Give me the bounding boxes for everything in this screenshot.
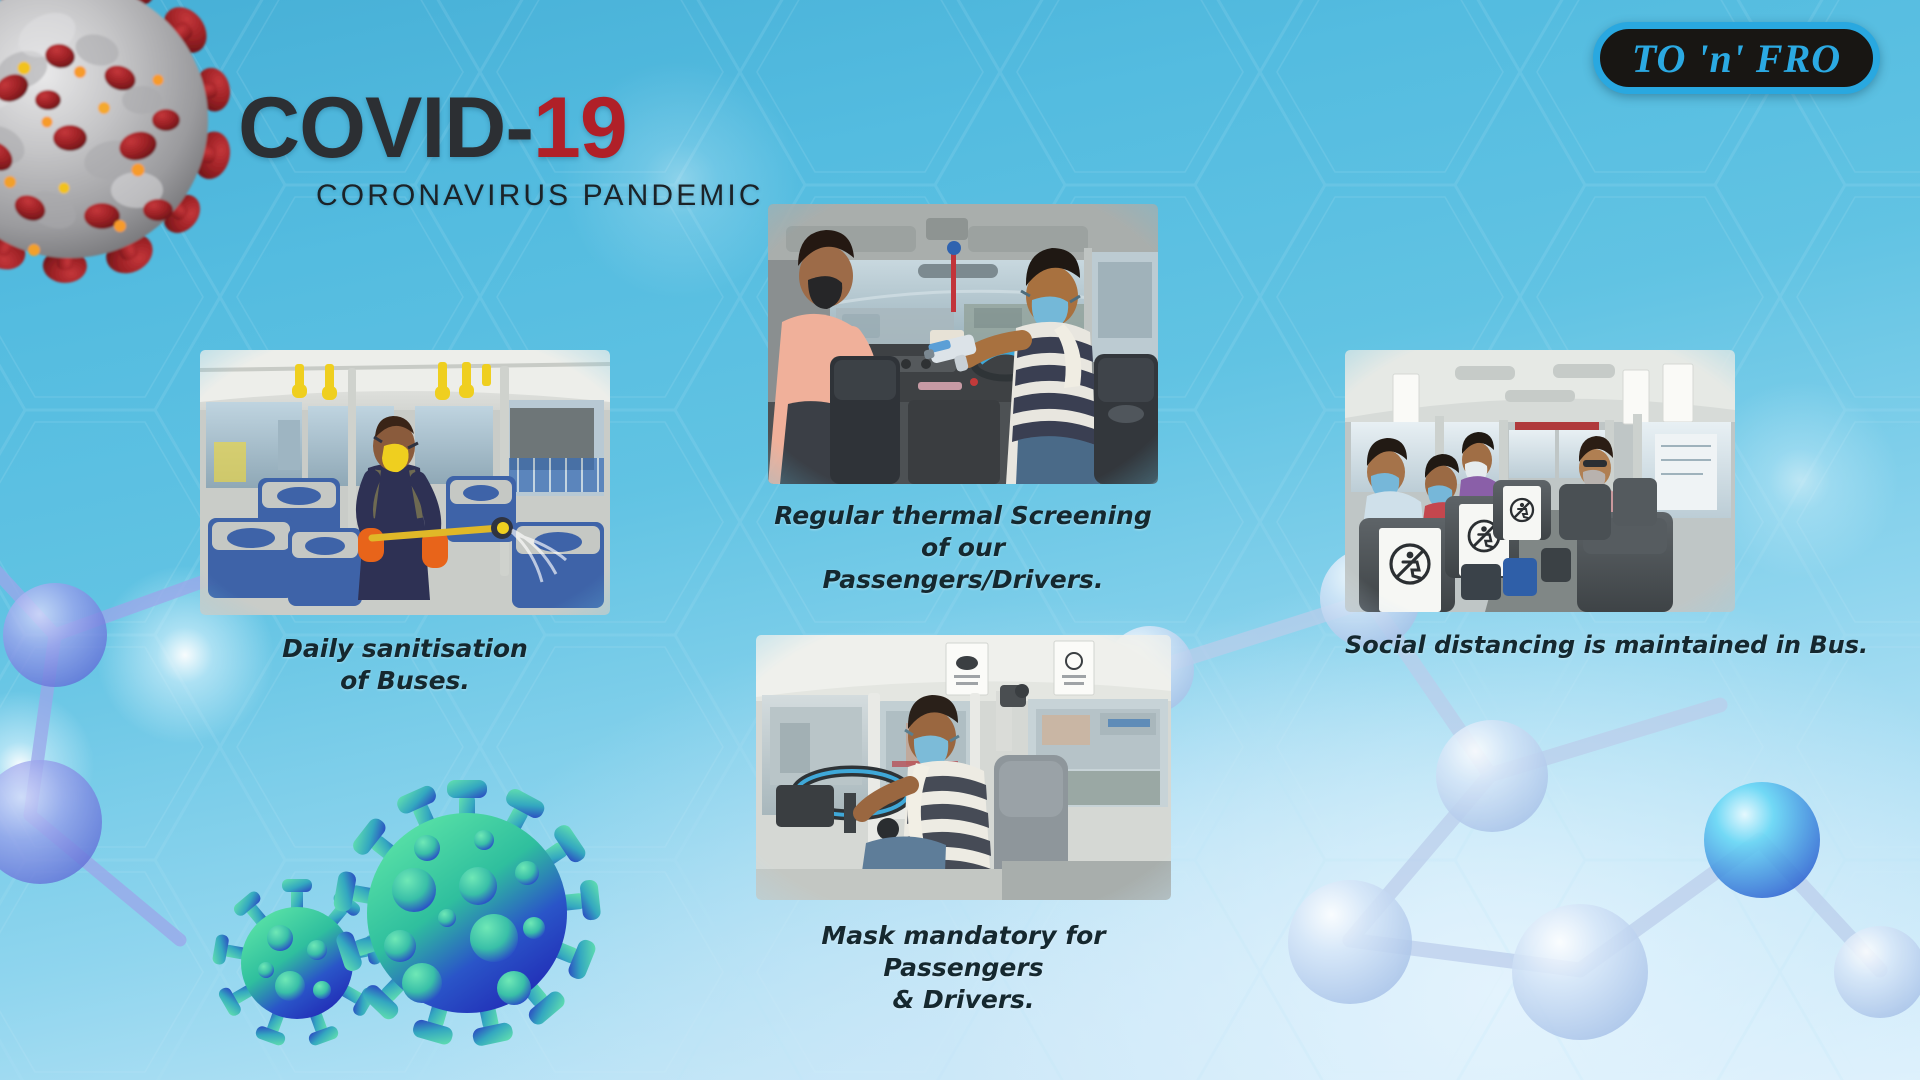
title-covid-text: COVID-: [238, 80, 533, 176]
page-subtitle: CORONAVIRUS PANDEMIC: [316, 179, 798, 213]
poster-canvas: COVID-19 CORONAVIRUS PANDEMIC TO 'n' FRO: [0, 0, 1920, 1080]
caption-social-distancing: Social distancing is maintained in Bus.: [1345, 630, 1735, 661]
coronavirus-particle-image: [0, 0, 252, 350]
brand-logo[interactable]: TO 'n' FRO: [1593, 22, 1880, 94]
photo-mask-mandatory: [756, 635, 1171, 900]
light-bloom: [0, 690, 95, 840]
info-card-mask-mandatory: Mask mandatory for Passengers & Drivers.: [756, 635, 1171, 1016]
title-nineteen-text: 19: [533, 80, 627, 176]
info-card-sanitisation: Daily sanitisation of Buses.: [200, 350, 610, 697]
page-title: COVID-19: [238, 88, 798, 170]
brand-logo-text: TO 'n' FRO: [1632, 35, 1841, 82]
info-card-social-distancing: Social distancing is maintained in Bus.: [1345, 350, 1735, 661]
info-card-thermal-screening: Regular thermal Screening of our Passeng…: [768, 204, 1158, 596]
headline-block: COVID-19 CORONAVIRUS PANDEMIC: [238, 88, 798, 213]
photo-social-distancing: [1345, 350, 1735, 612]
caption-mask-mandatory: Mask mandatory for Passengers & Drivers.: [756, 920, 1171, 1016]
caption-daily-sanitisation: Daily sanitisation of Buses.: [200, 633, 610, 697]
photo-daily-sanitisation: [200, 350, 610, 615]
stylised-virus-graphic: [222, 738, 652, 1068]
caption-thermal-screening: Regular thermal Screening of our Passeng…: [768, 500, 1158, 596]
photo-thermal-screening: [768, 204, 1158, 484]
